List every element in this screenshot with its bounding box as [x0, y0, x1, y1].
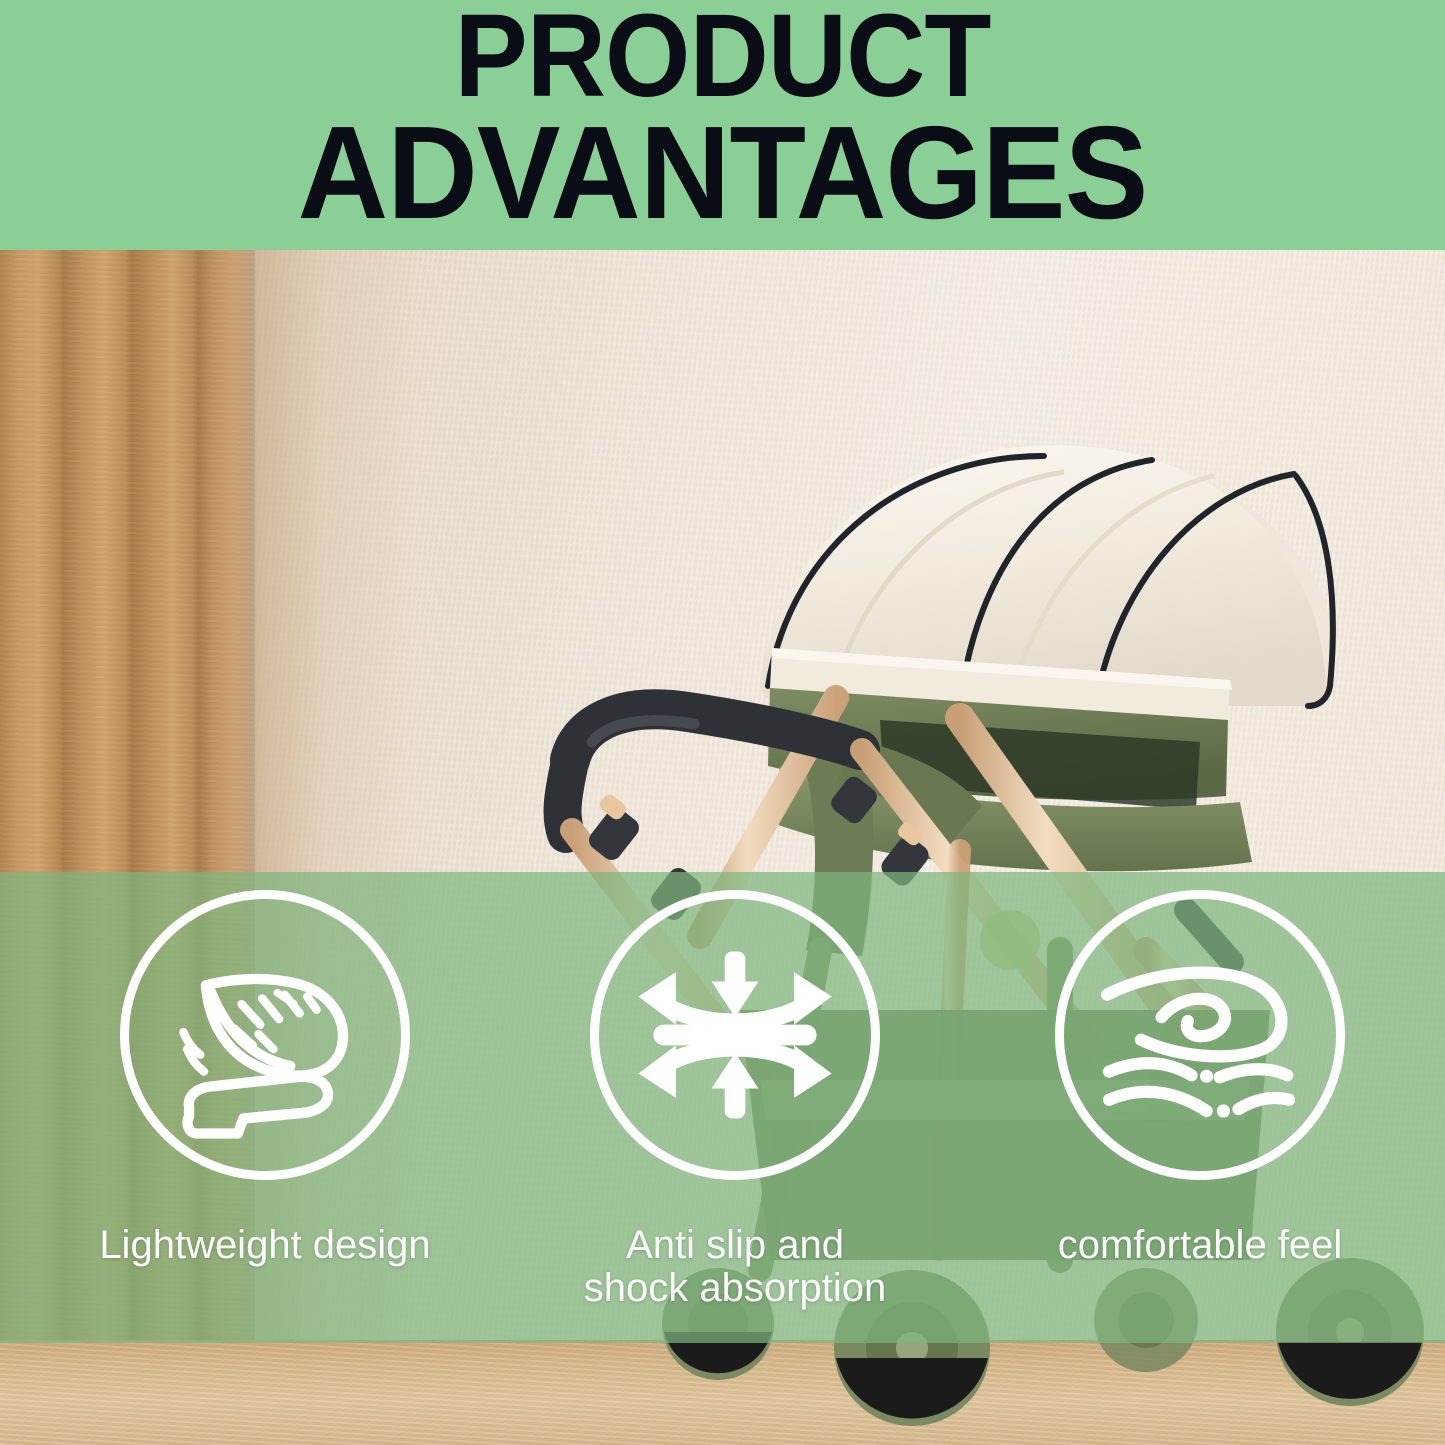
feature-label-line-1: Anti slip and	[515, 1224, 955, 1267]
header-band: PRODUCT ADVANTAGES	[0, 0, 1445, 250]
shock-absorption-arrows-icon	[590, 890, 880, 1180]
feature-label-lightweight-design: Lightweight design	[45, 1224, 485, 1267]
feature-item-comfortable-feel: comfortable feel	[1020, 872, 1380, 1345]
feature-item-lightweight-design: Lightweight design	[85, 872, 445, 1345]
soft-cushion-fabric-icon	[1055, 890, 1345, 1180]
feature-item-anti-slip-shock-absorption: Anti slip and shock absorption	[555, 872, 915, 1345]
feather-on-hand-icon	[120, 890, 410, 1180]
product-advantages-banner: PRODUCT ADVANTAGES	[0, 0, 1445, 1445]
page-title-line-2: ADVANTAGES	[36, 112, 1409, 233]
page-title-line-1: PRODUCT	[51, 2, 1395, 111]
feature-label-comfortable-feel: comfortable feel	[980, 1224, 1420, 1267]
feature-row: Lightweight design	[0, 872, 1445, 1345]
feature-label-anti-slip-shock-absorption: Anti slip and shock absorption	[515, 1224, 955, 1310]
feature-label-line-2: shock absorption	[515, 1267, 955, 1310]
